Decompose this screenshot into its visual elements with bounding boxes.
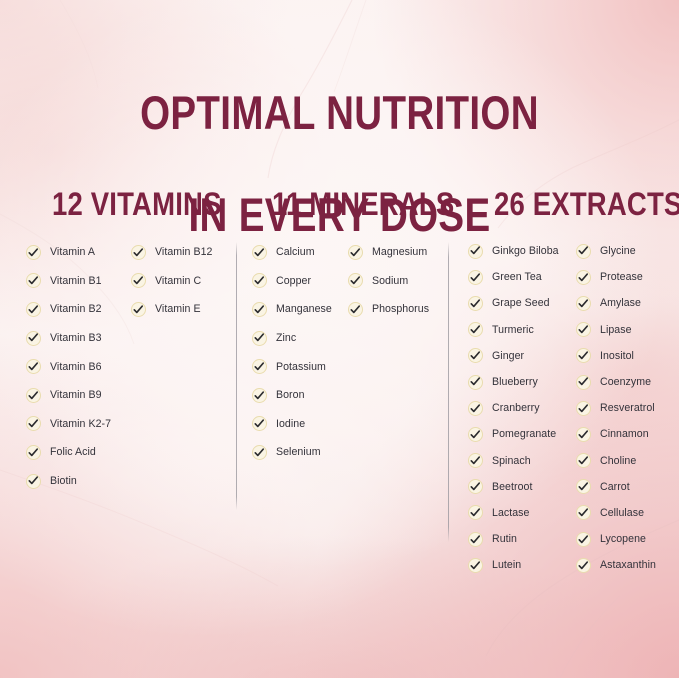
list-item: Vitamin E	[131, 295, 236, 324]
list-item: Ginger	[468, 343, 576, 369]
list-item-label: Lycopene	[600, 533, 646, 545]
list-item-label: Green Tea	[492, 271, 542, 283]
list-item: Vitamin B3	[26, 324, 132, 353]
list-item: Calcium	[252, 238, 348, 267]
column-divider-2	[448, 242, 449, 542]
check-circle-icon	[576, 296, 591, 311]
check-circle-icon	[468, 427, 483, 442]
check-circle-icon	[26, 388, 41, 403]
check-circle-icon	[468, 453, 483, 468]
column-divider-1	[236, 242, 237, 510]
page-title-line-1: OPTIMAL NUTRITION	[61, 87, 618, 138]
column-minerals: 11 MINERALS Calcium Copper Manganese	[250, 186, 448, 238]
list-item-label: Spinach	[492, 455, 531, 467]
list-item-label: Amylase	[600, 297, 641, 309]
check-circle-icon	[131, 273, 146, 288]
list-item-label: Vitamin A	[50, 246, 95, 258]
check-circle-icon	[468, 244, 483, 259]
check-circle-icon	[26, 331, 41, 346]
list-item-label: Vitamin B6	[50, 361, 102, 373]
list-item: Cinnamon	[576, 421, 679, 447]
check-circle-icon	[252, 445, 267, 460]
list-item-label: Cellulase	[600, 507, 644, 519]
check-circle-icon	[468, 375, 483, 390]
check-circle-icon	[468, 532, 483, 547]
column-title-vitamins: 12 VITAMINS	[52, 186, 210, 222]
column-vitamins: 12 VITAMINS Vitamin A Vitamin B1 Vitamin…	[24, 186, 236, 238]
list-item: Spinach	[468, 448, 576, 474]
extracts-sub-column-2: Glycine Protease Amylase Lipase	[576, 238, 679, 578]
check-circle-icon	[348, 245, 363, 260]
list-item-label: Biotin	[50, 475, 77, 487]
list-item: Zinc	[252, 324, 348, 353]
list-item: Vitamin B1	[26, 267, 132, 296]
list-item-label: Resveratrol	[600, 402, 655, 414]
list-item-label: Copper	[276, 275, 311, 287]
list-item-label: Lutein	[492, 559, 521, 571]
list-item-label: Sodium	[372, 275, 408, 287]
list-item: Biotin	[26, 467, 132, 496]
vitamins-sub-column-2: Vitamin B12 Vitamin C Vitamin E	[131, 238, 236, 324]
list-item-label: Vitamin B2	[50, 303, 102, 315]
list-item-label: Rutin	[492, 533, 517, 545]
list-item: Lutein	[468, 552, 576, 578]
list-item: Folic Acid	[26, 438, 132, 467]
check-circle-icon	[26, 416, 41, 431]
list-item-label: Choline	[600, 455, 636, 467]
list-item: Vitamin B6	[26, 352, 132, 381]
list-item: Ginkgo Biloba	[468, 238, 576, 264]
check-circle-icon	[26, 445, 41, 460]
list-item-label: Lipase	[600, 324, 632, 336]
check-circle-icon	[576, 244, 591, 259]
list-item: Vitamin K2-7	[26, 410, 132, 439]
list-item: Phosphorus	[348, 295, 448, 324]
check-circle-icon	[252, 245, 267, 260]
list-item-label: Vitamin K2-7	[50, 418, 111, 430]
list-item: Copper	[252, 267, 348, 296]
list-item: Pomegranate	[468, 421, 576, 447]
list-item: Choline	[576, 448, 679, 474]
list-item-label: Boron	[276, 389, 305, 401]
list-item: Inositol	[576, 343, 679, 369]
check-circle-icon	[131, 302, 146, 317]
list-item: Turmeric	[468, 317, 576, 343]
extracts-sub-column-1: Ginkgo Biloba Green Tea Grape Seed Turme…	[468, 238, 576, 578]
list-item: Carrot	[576, 474, 679, 500]
list-item: Potassium	[252, 352, 348, 381]
list-item: Glycine	[576, 238, 679, 264]
list-item-label: Phosphorus	[372, 303, 429, 315]
column-title-minerals: 11 MINERALS	[272, 186, 423, 222]
check-circle-icon	[576, 453, 591, 468]
ingredient-columns: 12 VITAMINS Vitamin A Vitamin B1 Vitamin…	[0, 186, 679, 606]
check-circle-icon	[252, 359, 267, 374]
list-item-label: Cinnamon	[600, 428, 649, 440]
list-item: Blueberry	[468, 369, 576, 395]
check-circle-icon	[576, 479, 591, 494]
list-item: Vitamin C	[131, 267, 236, 296]
list-item-label: Vitamin B12	[155, 246, 212, 258]
check-circle-icon	[26, 359, 41, 374]
check-circle-icon	[468, 348, 483, 363]
list-item: Selenium	[252, 438, 348, 467]
list-item: Resveratrol	[576, 395, 679, 421]
check-circle-icon	[26, 273, 41, 288]
minerals-sub-column-1: Calcium Copper Manganese Zinc	[252, 238, 348, 467]
list-item-label: Ginkgo Biloba	[492, 245, 559, 257]
check-circle-icon	[468, 322, 483, 337]
list-item-label: Protease	[600, 271, 643, 283]
list-item: Vitamin B12	[131, 238, 236, 267]
check-circle-icon	[468, 479, 483, 494]
list-item: Protease	[576, 264, 679, 290]
list-item-label: Zinc	[276, 332, 296, 344]
check-circle-icon	[576, 532, 591, 547]
list-item: Lipase	[576, 317, 679, 343]
check-circle-icon	[576, 401, 591, 416]
list-item-label: Ginger	[492, 350, 524, 362]
list-item-label: Astaxanthin	[600, 559, 656, 571]
check-circle-icon	[468, 505, 483, 520]
check-circle-icon	[131, 245, 146, 260]
list-item-label: Pomegranate	[492, 428, 556, 440]
column-extracts: 26 EXTRACTS Ginkgo Biloba Green Tea Grap…	[464, 186, 679, 238]
check-circle-icon	[576, 375, 591, 390]
check-circle-icon	[576, 505, 591, 520]
check-circle-icon	[468, 270, 483, 285]
check-circle-icon	[252, 331, 267, 346]
list-item: Sodium	[348, 267, 448, 296]
list-item: Vitamin B9	[26, 381, 132, 410]
list-item-label: Potassium	[276, 361, 326, 373]
list-item: Cellulase	[576, 500, 679, 526]
list-item-label: Vitamin C	[155, 275, 201, 287]
check-circle-icon	[252, 416, 267, 431]
list-item-label: Vitamin B3	[50, 332, 102, 344]
list-item-label: Magnesium	[372, 246, 427, 258]
list-item: Green Tea	[468, 264, 576, 290]
check-circle-icon	[252, 388, 267, 403]
list-item-label: Inositol	[600, 350, 634, 362]
check-circle-icon	[576, 322, 591, 337]
list-item: Magnesium	[348, 238, 448, 267]
check-circle-icon	[576, 558, 591, 573]
check-circle-icon	[468, 558, 483, 573]
list-item-label: Vitamin E	[155, 303, 201, 315]
list-item: Amylase	[576, 290, 679, 316]
check-circle-icon	[252, 302, 267, 317]
list-item-label: Turmeric	[492, 324, 534, 336]
check-circle-icon	[26, 245, 41, 260]
check-circle-icon	[576, 427, 591, 442]
check-circle-icon	[252, 273, 267, 288]
list-item-label: Lactase	[492, 507, 529, 519]
list-item: Cranberry	[468, 395, 576, 421]
column-title-extracts: 26 EXTRACTS	[494, 186, 653, 222]
list-item: Coenzyme	[576, 369, 679, 395]
list-item-label: Vitamin B9	[50, 389, 102, 401]
check-circle-icon	[468, 296, 483, 311]
list-item-label: Manganese	[276, 303, 332, 315]
list-item: Astaxanthin	[576, 552, 679, 578]
list-item-label: Calcium	[276, 246, 315, 258]
list-item: Lactase	[468, 500, 576, 526]
list-item-label: Grape Seed	[492, 297, 550, 309]
check-circle-icon	[576, 348, 591, 363]
list-item-label: Cranberry	[492, 402, 540, 414]
list-item-label: Beetroot	[492, 481, 532, 493]
list-item-label: Iodine	[276, 418, 305, 430]
list-item-label: Carrot	[600, 481, 630, 493]
check-circle-icon	[26, 474, 41, 489]
check-circle-icon	[348, 302, 363, 317]
list-item-label: Blueberry	[492, 376, 538, 388]
infographic-page: OPTIMAL NUTRITION IN EVERY DOSE 12 VITAM…	[0, 0, 679, 678]
list-item: Beetroot	[468, 474, 576, 500]
check-circle-icon	[26, 302, 41, 317]
list-item: Grape Seed	[468, 290, 576, 316]
check-circle-icon	[576, 270, 591, 285]
minerals-sub-column-2: Magnesium Sodium Phosphorus	[348, 238, 448, 324]
list-item: Iodine	[252, 410, 348, 439]
list-item: Vitamin A	[26, 238, 132, 267]
list-item: Rutin	[468, 526, 576, 552]
check-circle-icon	[348, 273, 363, 288]
list-item-label: Folic Acid	[50, 446, 96, 458]
list-item-label: Selenium	[276, 446, 321, 458]
check-circle-icon	[468, 401, 483, 416]
list-item-label: Vitamin B1	[50, 275, 102, 287]
list-item: Vitamin B2	[26, 295, 132, 324]
list-item: Manganese	[252, 295, 348, 324]
vitamins-sub-column-1: Vitamin A Vitamin B1 Vitamin B2 Vitamin …	[26, 238, 132, 495]
list-item-label: Glycine	[600, 245, 636, 257]
list-item-label: Coenzyme	[600, 376, 651, 388]
list-item: Boron	[252, 381, 348, 410]
list-item: Lycopene	[576, 526, 679, 552]
